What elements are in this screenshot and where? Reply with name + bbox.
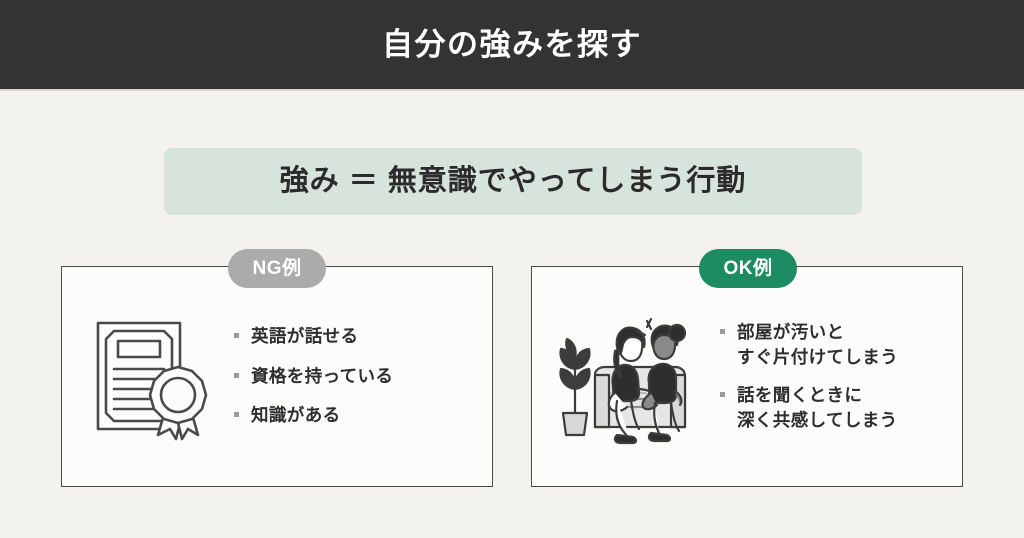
- ok-example-badge-label: OK例: [723, 259, 772, 278]
- bullet-square-icon: [234, 333, 239, 338]
- list-item-line-1: 知識がある: [251, 405, 341, 425]
- page-header: 自分の強みを探す: [0, 0, 1024, 89]
- definition-banner: 強み ＝ 無意識でやってしまう行動: [164, 148, 862, 215]
- ng-example-badge-label: NG例: [252, 259, 301, 278]
- list-item: 知識がある: [234, 403, 478, 428]
- certificate-award-icon: [80, 307, 220, 447]
- two-women-talking-on-sofa-icon: [550, 307, 706, 447]
- bullet-square-icon: [720, 392, 725, 397]
- ok-card-content: 部屋が汚いと すぐ片付けてしまう 話を聞くときに 深く共感してしまう: [532, 267, 962, 486]
- ng-card-content: 英語が話せる 資格を持っている 知識がある: [62, 267, 492, 486]
- list-item-line-1: 英語が話せる: [251, 326, 358, 346]
- list-item: 部屋が汚いと すぐ片付けてしまう: [720, 320, 948, 371]
- definition-banner-text: 強み ＝ 無意識でやってしまう行動: [280, 167, 747, 196]
- ng-example-card: 英語が話せる 資格を持っている 知識がある: [61, 266, 493, 487]
- ng-example-list: 英語が話せる 資格を持っている 知識がある: [220, 324, 478, 428]
- list-item-line-1: 資格を持っている: [251, 366, 393, 386]
- list-item-line-1: 話を聞くときに: [737, 385, 862, 405]
- ok-example-card: 部屋が汚いと すぐ片付けてしまう 話を聞くときに 深く共感してしまう: [531, 266, 963, 487]
- bullet-square-icon: [234, 373, 239, 378]
- list-item: 英語が話せる: [234, 324, 478, 349]
- ng-example-badge: NG例: [228, 249, 326, 288]
- ok-example-badge: OK例: [699, 249, 797, 288]
- list-item-line-1: 部屋が汚いと: [737, 322, 844, 342]
- bullet-square-icon: [234, 412, 239, 417]
- page-title: 自分の強みを探す: [382, 29, 642, 60]
- list-item: 資格を持っている: [234, 364, 478, 389]
- list-item: 話を聞くときに 深く共感してしまう: [720, 383, 948, 434]
- list-item-line-2: すぐ片付けてしまう: [737, 345, 948, 370]
- header-divider: [0, 89, 1024, 91]
- ok-example-list: 部屋が汚いと すぐ片付けてしまう 話を聞くときに 深く共感してしまう: [706, 320, 948, 434]
- list-item-line-2: 深く共感してしまう: [737, 408, 948, 433]
- bullet-square-icon: [720, 329, 725, 334]
